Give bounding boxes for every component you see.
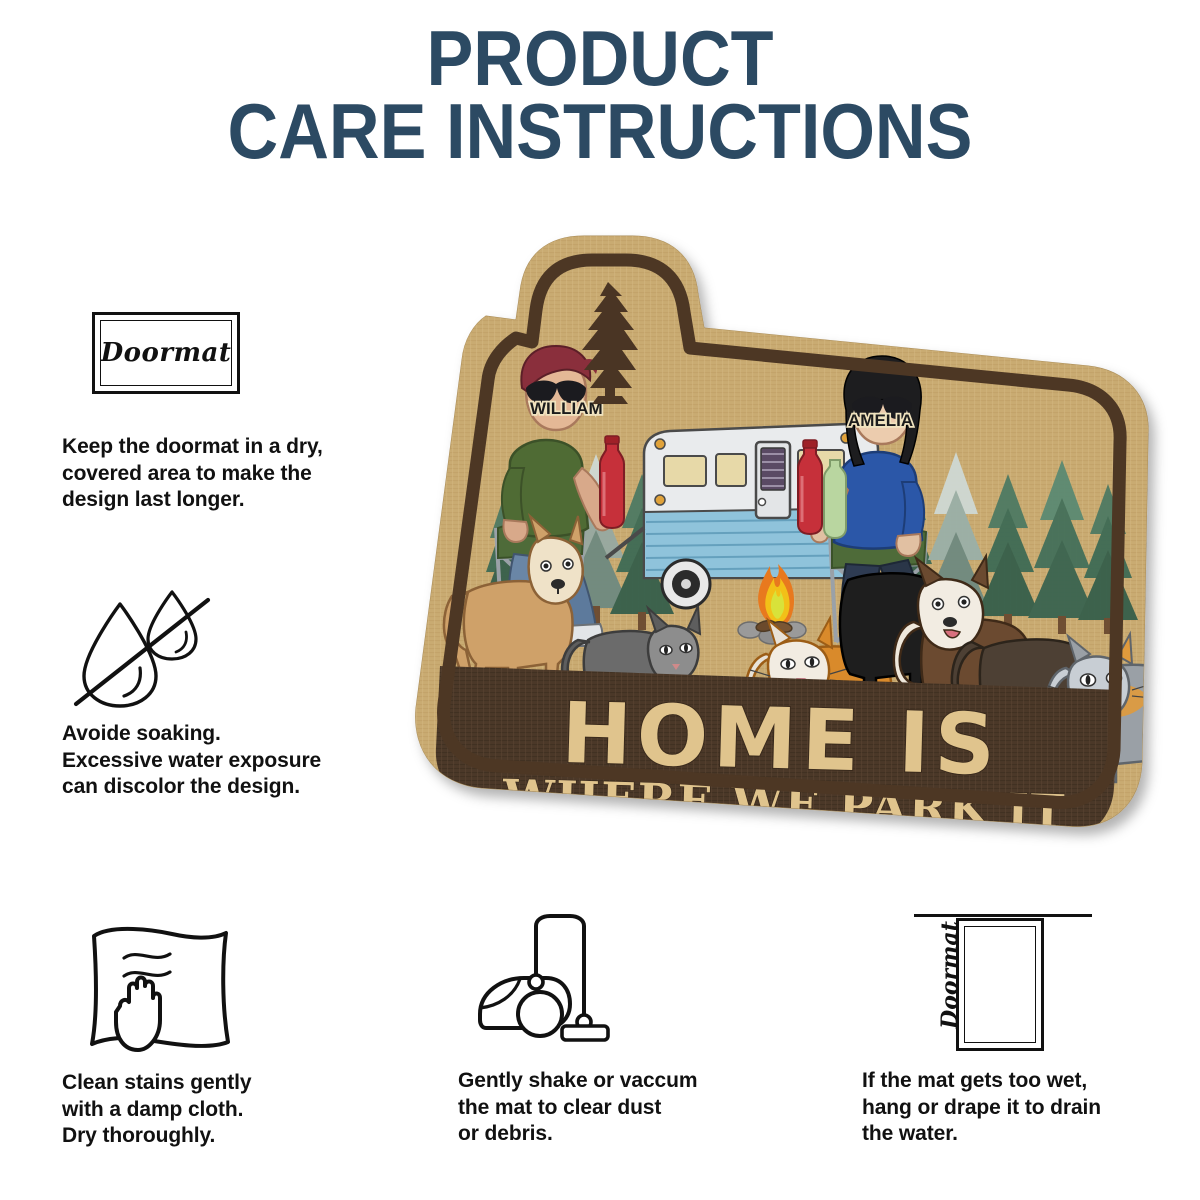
name-label-left: WILLIAM: [530, 399, 603, 418]
vacuum-cleaner-icon: [458, 910, 688, 1060]
care-item-vacuum: Gently shake or vaccum the mat to clear …: [458, 910, 788, 1148]
care-item-vacuum-text: Gently shake or vaccum the mat to clear …: [458, 1068, 788, 1148]
no-soaking-icon-wrap: [62, 586, 392, 711]
care-item-keep-dry: Doormat Keep the doormat in a dry, cover…: [62, 312, 392, 514]
title-line-1: PRODUCT: [60, 22, 1140, 95]
care-item-clean-stains-text: Clean stains gently with a damp cloth. D…: [62, 1070, 392, 1150]
hanging-doormat-icon-wrap: Doormat: [862, 908, 1192, 1060]
slogan-banner: HOME IS WHERE WE PARK IT: [436, 666, 1120, 840]
name-label-right: AMELIA: [848, 411, 913, 430]
hanging-doormat-icon: Doormat: [906, 908, 1096, 1058]
doormat-label-icon-text: Doormat: [92, 312, 240, 394]
cloth-wipe-hand-icon: [62, 916, 282, 1061]
page-title: PRODUCT CARE INSTRUCTIONS: [0, 22, 1200, 167]
doormat-label-icon-wrap: Doormat: [62, 312, 392, 412]
no-soaking-water-drop-icon: [62, 586, 262, 711]
hanging-mat-label-text: Doormat: [937, 921, 963, 1029]
title-line-2: CARE INSTRUCTIONS: [60, 95, 1140, 168]
care-item-keep-dry-text: Keep the doormat in a dry, covered area …: [62, 434, 392, 514]
care-item-clean-stains: Clean stains gently with a damp cloth. D…: [62, 916, 392, 1150]
product-doormat-image: WILLIAM AMELIA HOME IS WHERE WE PARK IT: [378, 228, 1168, 888]
hanging-mat-label: Doormat: [906, 908, 994, 1041]
cloth-wipe-icon-wrap: [62, 916, 392, 1056]
care-item-avoid-soaking: Avoide soaking. Excessive water exposure…: [62, 586, 392, 801]
vacuum-icon-wrap: [458, 910, 788, 1058]
care-item-avoid-soaking-text: Avoide soaking. Excessive water exposure…: [62, 721, 392, 801]
care-item-hang-to-drain-text: If the mat gets too wet, hang or drape i…: [862, 1068, 1192, 1148]
care-instructions-page: PRODUCT CARE INSTRUCTIONS Doormat Keep t…: [0, 0, 1200, 1200]
care-item-hang-to-drain: Doormat If the mat gets too wet, hang or…: [862, 908, 1192, 1148]
